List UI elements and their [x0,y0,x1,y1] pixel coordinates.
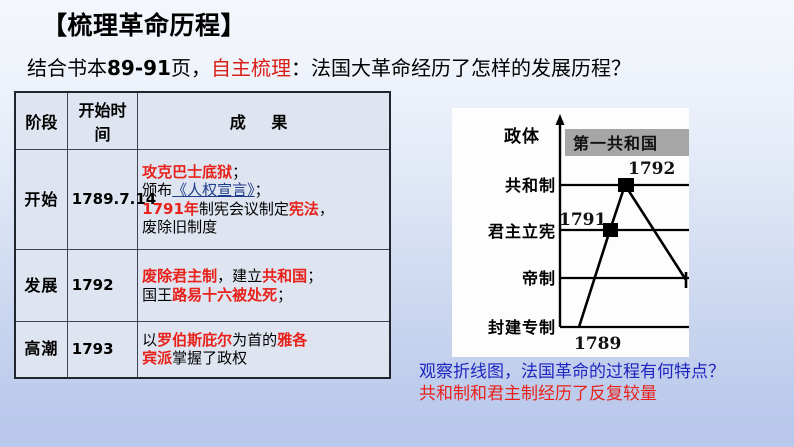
result-fragment: 1791年 [142,200,199,218]
marker-1792 [618,178,634,192]
y-label-feudal-autocracy: 封建专制 [488,318,556,337]
result-fragment: ； [255,181,270,199]
result-fragment: 雅各 [277,331,307,349]
subtitle-highlight: 自主梳理 [211,56,291,80]
result-fragment: 为首的 [232,331,277,349]
cell-time: 1789.7.14 [67,150,137,250]
subtitle-lead: 结合书本 [27,56,107,80]
result-fragment: ， [319,200,334,218]
result-fragment: 制宪会议制定 [199,200,289,218]
result-line: 以罗伯斯庇尔为首的雅各 [142,331,385,349]
cell-result: 以罗伯斯庇尔为首的雅各宾派掌握了政权 [138,322,390,378]
result-line: 颁布《人权宣言》； [142,181,385,199]
x-label-1789: 1789 [574,334,621,354]
result-fragment: ； [307,267,322,285]
cell-time: 1792 [67,250,137,322]
result-fragment: 攻克巴士底狱 [142,163,232,181]
subtitle-tail: ：法国大革命经历了怎样的发展历程？ [291,56,631,80]
result-line: 攻克巴士底狱； [142,163,385,181]
result-fragment: ； [277,286,292,304]
result-fragment: 共和国 [262,267,307,285]
result-fragment: 宾派 [142,349,172,367]
header-time: 开始时间 [67,92,137,150]
table-row: 高潮1793以罗伯斯庇尔为首的雅各宾派掌握了政权 [15,322,390,378]
polity-trend-line [579,185,686,327]
slide-canvas: 【梳理革命历程】 结合书本89-91页，自主梳理：法国大革命经历了怎样的发展历程… [0,0,794,447]
table-header-row: 阶段 开始时间 成 果 [15,92,390,150]
y-label-constitutional-monarchy: 君主立宪 [488,222,556,241]
result-fragment: 路易十六被处死 [172,286,277,304]
cell-result: 废除君主制，建立共和国；国王路易十六被处死； [138,250,390,322]
result-fragment: 罗伯斯庇尔 [157,331,232,349]
result-fragment: 以 [142,331,157,349]
result-line: 废除旧制度 [142,218,385,236]
result-fragment: ，建立 [217,267,262,285]
result-line: 宾派掌握了政权 [142,349,385,367]
cell-result: 攻克巴士底狱；颁布《人权宣言》；1791年制宪会议制定宪法，废除旧制度 [138,150,390,250]
subtitle-pages: 89-91 [107,56,171,80]
header-result: 成 果 [138,92,390,150]
cell-stage: 发展 [15,250,67,322]
result-fragment: 国王 [142,286,172,304]
cell-stage: 开始 [15,150,67,250]
polity-line-chart: 第一共和国 政体 共和制 君主立宪 帝制 封建专制 1791 1792 [452,108,689,357]
chart-caption: 观察折线图，法国革命的过程有何特点？ 共和制和君主制经历了反复较量 [419,362,725,406]
y-axis-arrow [556,114,565,125]
result-fragment: 颁布 [142,181,172,199]
subtitle-line: 结合书本89-91页，自主梳理：法国大革命经历了怎样的发展历程？ [27,52,631,81]
revolution-stage-table: 阶段 开始时间 成 果 开始1789.7.14攻克巴士底狱；颁布《人权宣言》；1… [14,91,391,379]
page-title: 【梳理革命历程】 [42,6,246,42]
y-axis-title: 政体 [504,126,540,147]
cell-time: 1793 [67,322,137,378]
caption-answer: 共和制和君主制经历了反复较量 [419,384,725,406]
result-line: 国王路易十六被处死； [142,286,385,304]
caption-question: 观察折线图，法国革命的过程有何特点？ [419,362,725,384]
y-label-republic: 共和制 [505,176,556,195]
table-row: 发展1792废除君主制，建立共和国；国王路易十六被处死； [15,250,390,322]
cell-stage: 高潮 [15,322,67,378]
result-line: 1791年制宪会议制定宪法， [142,200,385,218]
result-fragment: 掌握了政权 [172,349,247,367]
result-fragment: ； [232,163,247,181]
badge-label: 第一共和国 [573,134,658,153]
result-fragment: 废除旧制度 [142,218,217,236]
point-label-1791: 1791 [559,210,606,230]
table-row: 开始1789.7.14攻克巴士底狱；颁布《人权宣言》；1791年制宪会议制定宪法… [15,150,390,250]
point-label-1792: 1792 [628,159,675,179]
table-body: 开始1789.7.14攻克巴士底狱；颁布《人权宣言》；1791年制宪会议制定宪法… [15,150,390,378]
result-fragment: 宪法 [289,200,319,218]
chart-svg: 第一共和国 政体 共和制 君主立宪 帝制 封建专制 1791 1792 [452,108,689,357]
y-label-empire: 帝制 [522,269,556,288]
result-fragment: 《人权宣言》 [172,181,255,199]
result-line: 废除君主制，建立共和国； [142,267,385,285]
result-fragment: 废除君主制 [142,267,217,285]
header-stage: 阶段 [15,92,67,150]
subtitle-after-pages: 页， [171,56,211,80]
